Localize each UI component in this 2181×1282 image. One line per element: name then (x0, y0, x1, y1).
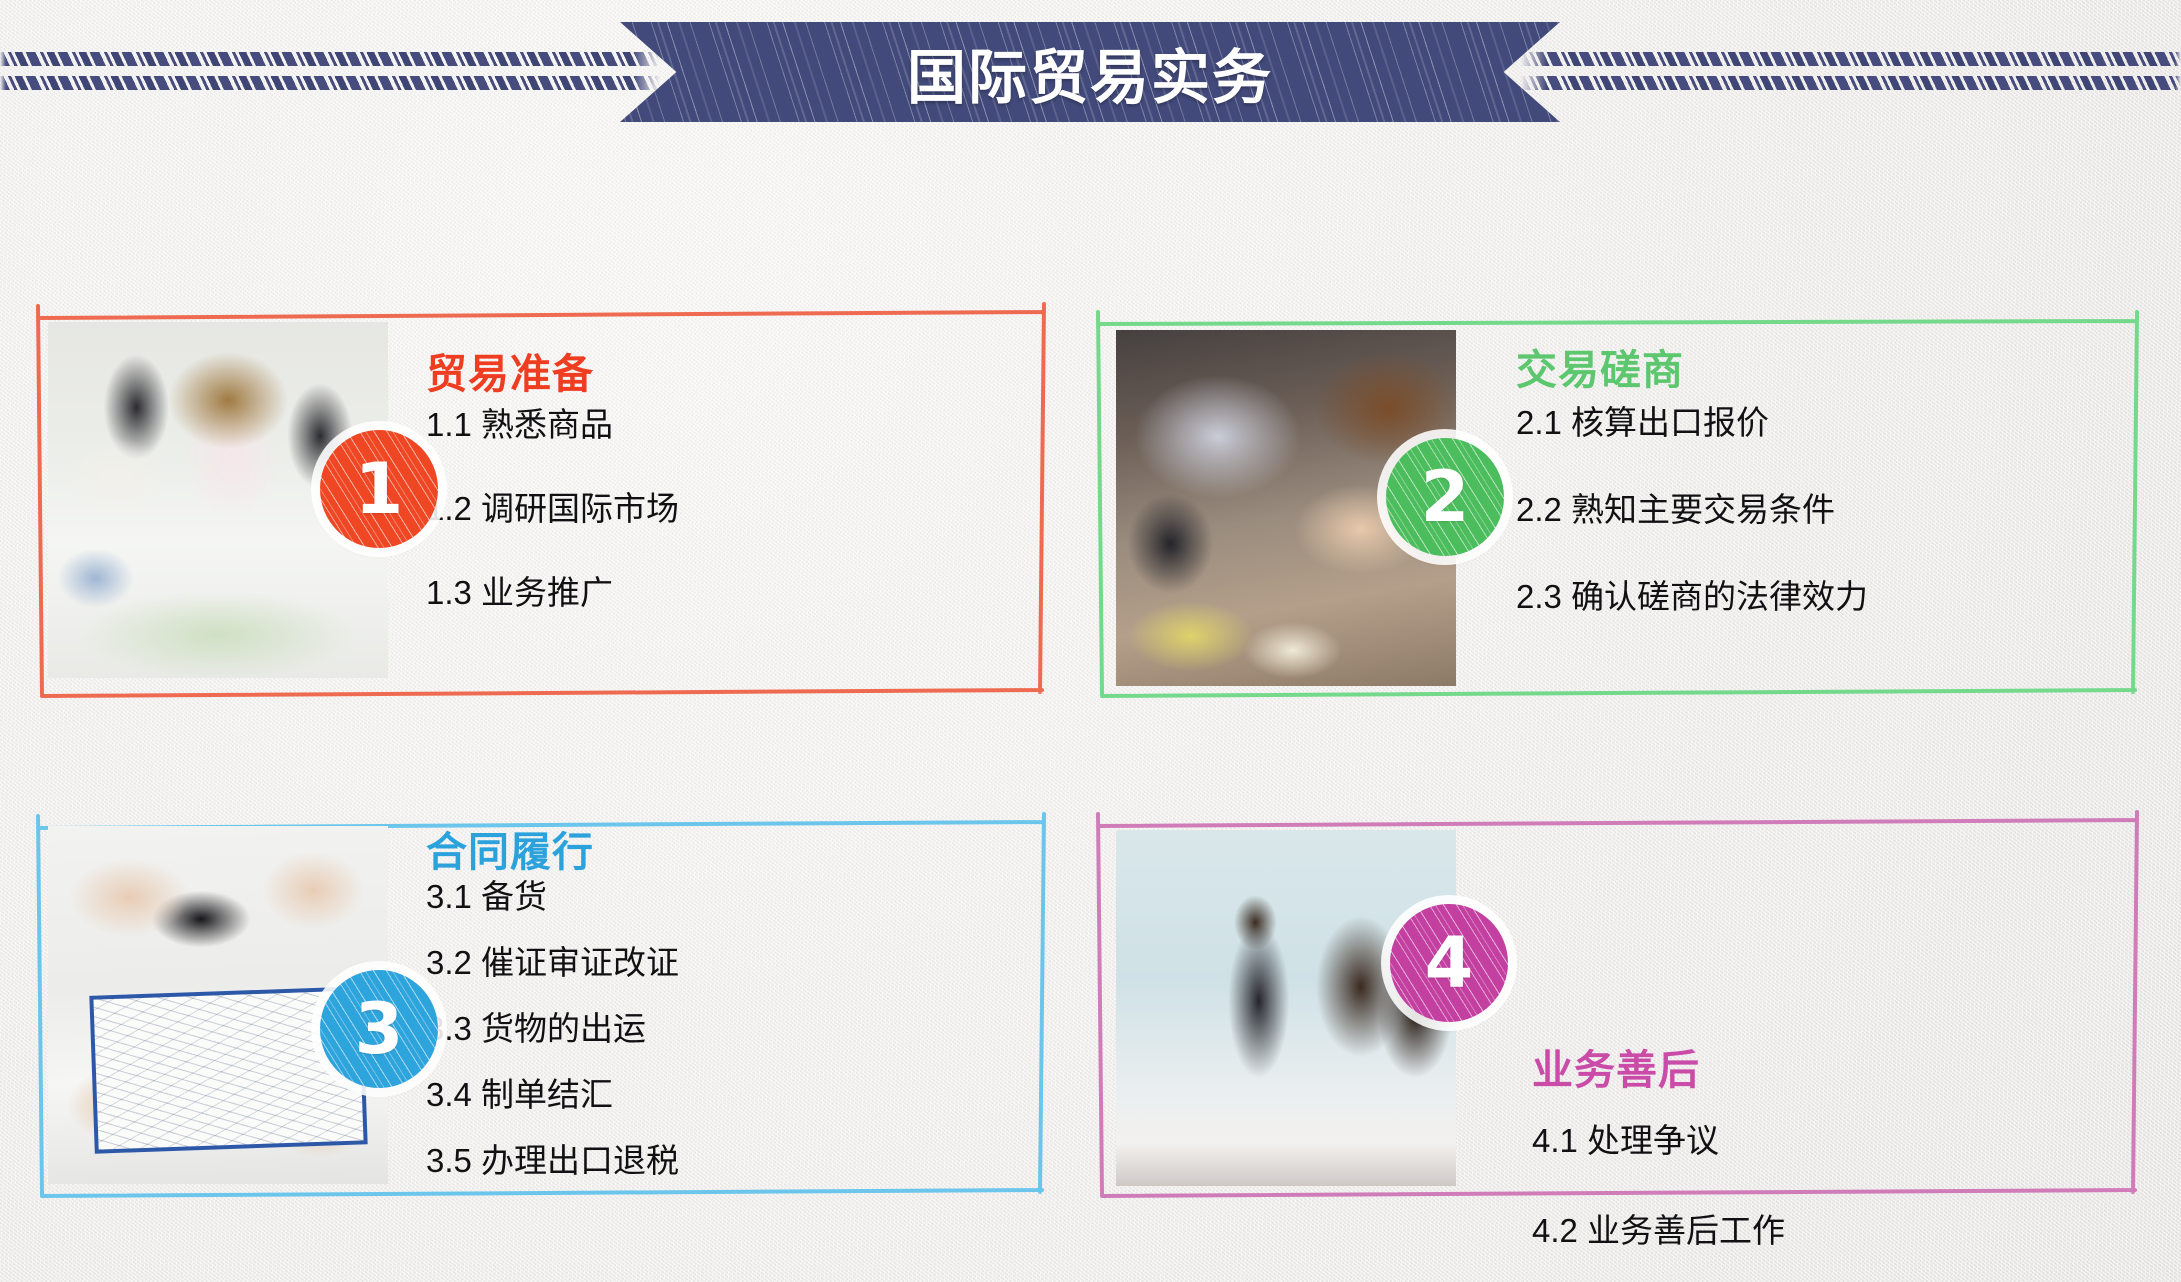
list-item[interactable]: 4.2 业务善后工作 (1532, 1204, 1785, 1252)
card-4-title: 业务善后 (1532, 1036, 1700, 1096)
card-4-photo (1116, 830, 1456, 1186)
list-item[interactable]: 2.2 熟知主要交易条件 (1516, 483, 1868, 531)
card-2-number-badge: 2 (1386, 438, 1504, 556)
list-item[interactable]: 3.2 催证审证改证 (426, 936, 679, 984)
card-1-body: 贸易准备 1.1 熟悉商品 1.2 调研国际市场 1.3 业务推广 (426, 310, 1038, 698)
ribbon-left-dashes (0, 50, 660, 94)
card-2-item-list: 2.1 核算出口报价 2.2 熟知主要交易条件 2.3 确认磋商的法律效力 (1516, 396, 1868, 657)
list-item[interactable]: 1.3 业务推广 (426, 566, 679, 614)
card-1-number: 1 (355, 454, 404, 524)
card-3-number-badge: 3 (320, 970, 438, 1088)
list-item[interactable]: 3.4 制单结汇 (426, 1068, 679, 1116)
card-1-title: 贸易准备 (426, 340, 594, 400)
page-title: 国际贸易实务 (907, 30, 1273, 115)
card-4-number-badge: 4 (1390, 904, 1508, 1022)
presenter-at-whiteboard-with-audience-photo (1116, 830, 1456, 1186)
ribbon-dash-line-bottom-right (1521, 76, 2181, 90)
stage-card-3[interactable]: 3 合同履行 3.1 备货 3.2 催证审证改证 3.3 货物的出运 3.4 制… (36, 818, 1048, 1198)
card-3-title: 合同履行 (426, 818, 594, 878)
list-item[interactable]: 3.3 货物的出运 (426, 1002, 679, 1050)
list-item[interactable]: 3.1 备货 (426, 870, 679, 918)
card-4-number: 4 (1425, 928, 1474, 998)
card-4-body: 业务善后 4.1 处理争议 4.2 业务善后工作 (1516, 818, 2131, 1198)
ribbon-right-dashes (1521, 50, 2181, 94)
stage-card-1[interactable]: 1 贸易准备 1.1 熟悉商品 1.2 调研国际市场 1.3 业务推广 (36, 310, 1048, 698)
card-3-body: 合同履行 3.1 备货 3.2 催证审证改证 3.3 货物的出运 3.4 制单结… (426, 818, 1038, 1198)
list-item[interactable]: 2.3 确认磋商的法律效力 (1516, 570, 1868, 618)
card-1-item-list: 1.1 熟悉商品 1.2 调研国际市场 1.3 业务推广 (426, 398, 679, 650)
list-item[interactable]: 1.1 熟悉商品 (426, 398, 679, 446)
card-2-title: 交易磋商 (1516, 336, 1684, 396)
list-item[interactable]: 1.2 调研国际市场 (426, 482, 679, 530)
card-1-number-badge: 1 (320, 430, 438, 548)
ribbon-dash-line-bottom-left (0, 76, 660, 90)
ribbon-dash-line-top-left (0, 52, 660, 66)
stage-card-2[interactable]: 2 交易磋商 2.1 核算出口报价 2.2 熟知主要交易条件 2.3 确认磋商的… (1096, 318, 2141, 698)
list-item[interactable]: 3.5 办理出口退税 (426, 1134, 679, 1182)
card-2-number: 2 (1421, 462, 1470, 532)
card-2-body: 交易磋商 2.1 核算出口报价 2.2 熟知主要交易条件 2.3 确认磋商的法律… (1516, 318, 2131, 698)
header-banner-area: 国际贸易实务 (0, 0, 2181, 140)
card-3-number: 3 (355, 994, 404, 1064)
card-3-item-list: 3.1 备货 3.2 催证审证改证 3.3 货物的出运 3.4 制单结汇 3.5… (426, 870, 679, 1200)
stage-card-4[interactable]: 4 业务善后 4.1 处理争议 4.2 业务善后工作 (1096, 818, 2141, 1198)
card-4-item-list: 4.1 处理争议 4.2 业务善后工作 (1532, 1114, 1785, 1282)
list-item[interactable]: 4.1 处理争议 (1532, 1114, 1785, 1162)
ribbon-dash-line-top-right (1521, 52, 2181, 66)
list-item[interactable]: 2.1 核算出口报价 (1516, 396, 1868, 444)
title-ribbon: 国际贸易实务 (620, 22, 1560, 122)
